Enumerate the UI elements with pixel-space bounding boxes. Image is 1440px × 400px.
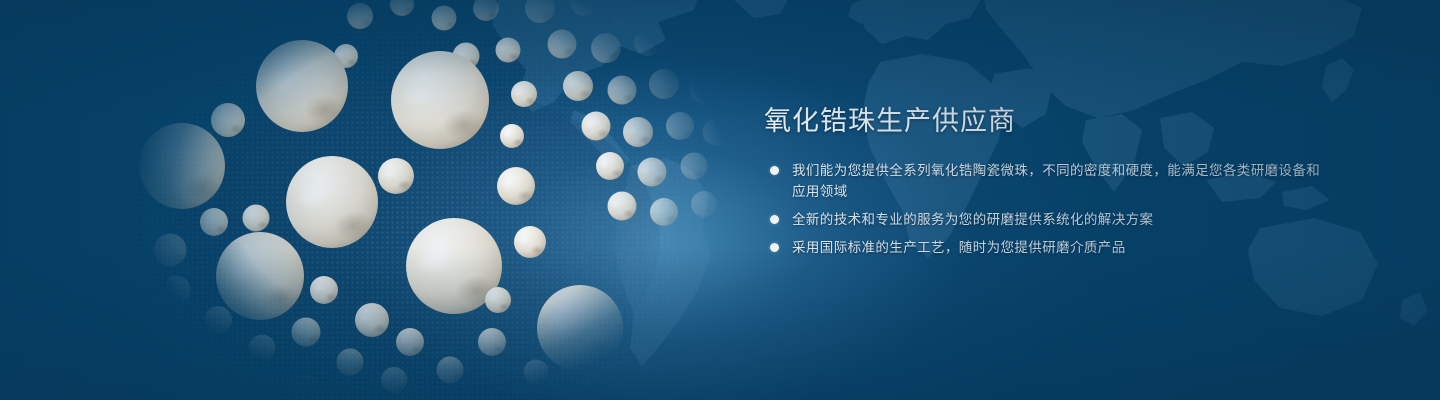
hero-banner: 氧化锆珠生产供应商 我们能为您提供全系列氧化锆陶瓷微珠，不同的密度和硬度，能满足… (0, 0, 1440, 400)
background-vignette (0, 0, 1440, 400)
